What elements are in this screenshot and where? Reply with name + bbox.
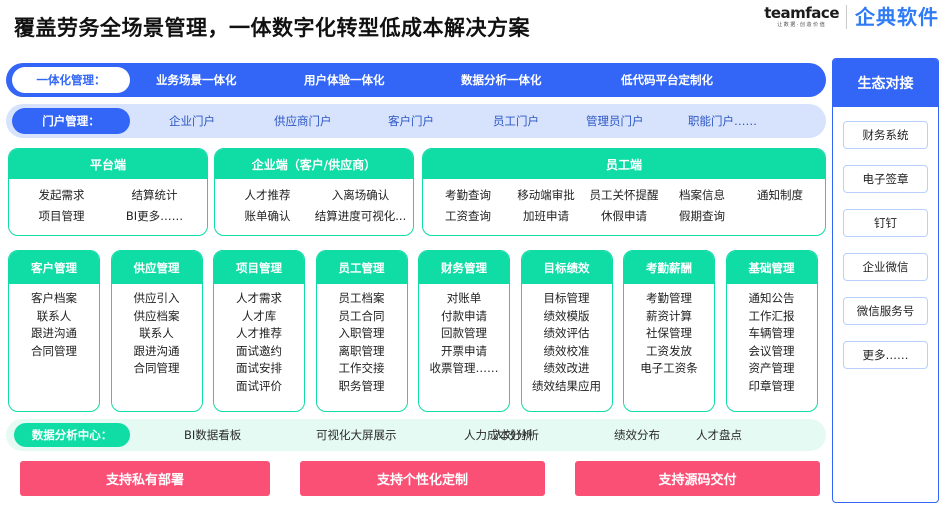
module-card-body: 供应引入供应档案联系人跟进沟通合同管理 [112, 284, 202, 377]
terminal-feature[interactable]: 休假申请 [585, 208, 663, 224]
module-card[interactable]: 客户管理客户档案联系人跟进沟通合同管理 [8, 250, 100, 412]
module-feature-item[interactable]: 员工档案 [339, 291, 385, 307]
module-card[interactable]: 供应管理供应引入供应档案联系人跟进沟通合同管理 [111, 250, 203, 412]
module-card-body: 通知公告工作汇报车辆管理会议管理资产管理印章管理 [727, 284, 817, 394]
module-card-body: 客户档案联系人跟进沟通合同管理 [9, 284, 99, 359]
module-feature-item[interactable]: 供应引入 [134, 291, 180, 307]
module-card[interactable]: 员工管理员工档案员工合同入职管理离职管理工作交接职务管理 [316, 250, 408, 412]
module-feature-item[interactable]: 绩效改进 [544, 361, 590, 377]
module-card-title: 基础管理 [727, 251, 817, 284]
module-card-title: 财务管理 [419, 251, 509, 284]
module-card-body: 对账单付款申请回款管理开票申请收票管理…… [419, 284, 509, 377]
module-feature-item[interactable]: 供应档案 [134, 309, 180, 325]
integration-item-2[interactable]: 数据分析一体化 [461, 72, 542, 88]
ecosystem-sidebar: 生态对接 财务系统电子签章钉钉企业微信微信服务号更多…… [832, 58, 939, 503]
terminal-feature [741, 208, 819, 224]
logo-tagline: 让数据·创造价值 [777, 23, 826, 28]
module-card-body: 员工档案员工合同入职管理离职管理工作交接职务管理 [317, 284, 407, 394]
cta-private-deployment[interactable]: 支持私有部署 [20, 461, 270, 496]
logo-wordmark: teamface [764, 6, 839, 21]
module-feature-item[interactable]: 联系人 [139, 326, 174, 342]
module-feature-item[interactable]: 合同管理 [31, 344, 77, 360]
module-card[interactable]: 项目管理人才需求人才库人才推荐面试邀约面试安排面试评价 [213, 250, 305, 412]
module-feature-item[interactable]: 入职管理 [339, 326, 385, 342]
page-header: 覆盖劳务全场景管理，一体数字化转型低成本解决方案 teamface 让数据·创造… [0, 0, 945, 52]
module-card-body: 人才需求人才库人才推荐面试邀约面试安排面试评价 [214, 284, 304, 394]
terminal-card-title: 平台端 [9, 149, 207, 179]
module-feature-item[interactable]: 绩效模版 [544, 309, 590, 325]
terminal-row: 项目管理BI更多…… [15, 208, 201, 224]
logo-teamface: teamface 让数据·创造价值 [764, 6, 846, 28]
terminal-card-enterprise: 企业端（客户/供应商） 人才推荐入离场确认账单确认结算进度可视化... [214, 148, 414, 236]
module-feature-item[interactable]: 付款申请 [441, 309, 487, 325]
portal-item-4[interactable]: 管理员门户 [586, 113, 644, 129]
analytics-item-5[interactable]: 人才盘点 [696, 427, 742, 443]
terminal-card-employee: 员工端 考勤查询移动端审批员工关怀提醒档案信息通知制度工资查询加班申请休假申请假… [422, 148, 826, 236]
analytics-item-0[interactable]: BI数据看板 [184, 427, 241, 443]
module-feature-item[interactable]: 工资发放 [646, 344, 692, 360]
portal-item-0[interactable]: 企业门户 [169, 113, 215, 129]
module-card-title: 项目管理 [214, 251, 304, 284]
module-feature-item[interactable]: 面试评价 [236, 379, 282, 395]
module-card-body: 考勤管理薪资计算社保管理工资发放电子工资条 [624, 284, 714, 377]
integration-management-bar: 一体化管理： 业务场景一体化用户体验一体化数据分析一体化低代码平台定制化 [6, 63, 826, 97]
module-card[interactable]: 财务管理对账单付款申请回款管理开票申请收票管理…… [418, 250, 510, 412]
integration-item-1[interactable]: 用户体验一体化 [304, 72, 385, 88]
module-card[interactable]: 考勤薪酬考勤管理薪资计算社保管理工资发放电子工资条 [623, 250, 715, 412]
terminal-feature[interactable]: 档案信息 [663, 187, 741, 203]
sidebar-title: 生态对接 [833, 59, 938, 107]
module-feature-item[interactable]: 员工合同 [339, 309, 385, 325]
terminal-card-title: 企业端（客户/供应商） [215, 149, 413, 179]
module-card-title: 供应管理 [112, 251, 202, 284]
module-feature-item[interactable]: 回款管理 [441, 326, 487, 342]
terminal-feature[interactable]: 工资查询 [429, 208, 507, 224]
terminal-feature[interactable]: 人才推荐 [221, 187, 314, 203]
logo-chinese-name: 企典软件 [847, 7, 939, 27]
terminal-row: 工资查询加班申请休假申请假期查询 [429, 208, 819, 224]
module-feature-item[interactable]: 绩效结果应用 [532, 379, 601, 395]
terminal-feature[interactable]: 通知制度 [741, 187, 819, 203]
module-feature-item[interactable]: 会议管理 [749, 344, 795, 360]
analytics-item-1[interactable]: 可视化大屏展示 [316, 427, 397, 443]
module-feature-item[interactable]: 绩效校准 [544, 344, 590, 360]
module-feature-item[interactable]: 工作交接 [339, 361, 385, 377]
brand-logo: teamface 让数据·创造价值 企典软件 [764, 2, 939, 32]
module-feature-item[interactable]: 联系人 [37, 309, 72, 325]
module-feature-item[interactable]: 跟进沟通 [134, 344, 180, 360]
module-card-body: 目标管理绩效模版绩效评估绩效校准绩效改进绩效结果应用 [522, 284, 612, 394]
terminal-feature[interactable]: 考勤查询 [429, 187, 507, 203]
module-feature-item[interactable]: 收票管理…… [430, 361, 499, 377]
portal-label-pill: 门户管理： [12, 108, 130, 134]
sidebar-item-0[interactable]: 财务系统 [843, 121, 928, 149]
module-feature-item[interactable]: 人才需求 [236, 291, 282, 307]
terminal-feature[interactable]: 项目管理 [15, 208, 108, 224]
cta-custom-development[interactable]: 支持个性化定制 [300, 461, 545, 496]
module-card-title: 目标绩效 [522, 251, 612, 284]
module-feature-item[interactable]: 客户档案 [31, 291, 77, 307]
module-feature-item[interactable]: 资产管理 [749, 361, 795, 377]
module-feature-item[interactable]: 面试安排 [236, 361, 282, 377]
module-feature-item[interactable]: 印章管理 [749, 379, 795, 395]
module-feature-item[interactable]: 工作汇报 [749, 309, 795, 325]
sidebar-item-2[interactable]: 钉钉 [843, 209, 928, 237]
analytics-item-3[interactable]: 人效分析 [493, 427, 539, 443]
terminal-feature[interactable]: BI更多…… [108, 208, 201, 224]
portal-management-bar: 门户管理： 企业门户供应商门户客户门户员工门户管理员门户职能门户…… [6, 104, 826, 138]
terminal-card-body: 考勤查询移动端审批员工关怀提醒档案信息通知制度工资查询加班申请休假申请假期查询 [423, 179, 825, 230]
analytics-item-4[interactable]: 绩效分布 [614, 427, 660, 443]
terminal-feature[interactable]: 移动端审批 [507, 187, 585, 203]
terminal-row: 考勤查询移动端审批员工关怀提醒档案信息通知制度 [429, 187, 819, 203]
data-analytics-bar: 数据分析中心： BI数据看板可视化大屏展示人力成本分析人效分析绩效分布人才盘点 [6, 419, 826, 451]
sidebar-item-1[interactable]: 电子签章 [843, 165, 928, 193]
module-feature-item[interactable]: 面试邀约 [236, 344, 282, 360]
module-feature-item[interactable]: 对账单 [447, 291, 482, 307]
module-feature-item[interactable]: 薪资计算 [646, 309, 692, 325]
sidebar-item-5[interactable]: 更多…… [843, 341, 928, 369]
module-card-title: 考勤薪酬 [624, 251, 714, 284]
sidebar-item-list: 财务系统电子签章钉钉企业微信微信服务号更多…… [833, 107, 938, 369]
portal-item-2[interactable]: 客户门户 [388, 113, 434, 129]
integration-item-0[interactable]: 业务场景一体化 [156, 72, 237, 88]
module-feature-item[interactable]: 跟进沟通 [31, 326, 77, 342]
module-feature-item[interactable]: 合同管理 [134, 361, 180, 377]
module-feature-item[interactable]: 绩效评估 [544, 326, 590, 342]
terminal-feature[interactable]: 发起需求 [15, 187, 108, 203]
analytics-label-pill: 数据分析中心： [14, 423, 130, 447]
module-card-title: 员工管理 [317, 251, 407, 284]
sidebar-item-3[interactable]: 企业微信 [843, 253, 928, 281]
module-card[interactable]: 目标绩效目标管理绩效模版绩效评估绩效校准绩效改进绩效结果应用 [521, 250, 613, 412]
terminal-feature[interactable]: 加班申请 [507, 208, 585, 224]
portal-item-3[interactable]: 员工门户 [493, 113, 539, 129]
module-feature-item[interactable]: 车辆管理 [749, 326, 795, 342]
module-feature-item[interactable]: 人才库 [242, 309, 277, 325]
terminal-card-platform: 平台端 发起需求结算统计项目管理BI更多…… [8, 148, 208, 236]
terminal-feature[interactable]: 假期查询 [663, 208, 741, 224]
cta-source-code-delivery[interactable]: 支持源码交付 [575, 461, 820, 496]
terminal-row: 账单确认结算进度可视化... [221, 208, 407, 224]
terminal-feature[interactable]: 结算进度可视化... [314, 208, 407, 224]
terminal-card-body: 人才推荐入离场确认账单确认结算进度可视化... [215, 179, 413, 230]
module-feature-item[interactable]: 考勤管理 [646, 291, 692, 307]
portal-item-1[interactable]: 供应商门户 [274, 113, 332, 129]
module-card[interactable]: 基础管理通知公告工作汇报车辆管理会议管理资产管理印章管理 [726, 250, 818, 412]
integration-item-3[interactable]: 低代码平台定制化 [621, 72, 713, 88]
module-feature-item[interactable]: 人才推荐 [236, 326, 282, 342]
slide-root: 覆盖劳务全场景管理，一体数字化转型低成本解决方案 teamface 让数据·创造… [0, 0, 945, 510]
module-feature-item[interactable]: 电子工资条 [640, 361, 698, 377]
terminal-card-body: 发起需求结算统计项目管理BI更多…… [9, 179, 207, 230]
module-feature-item[interactable]: 通知公告 [749, 291, 795, 307]
terminal-feature[interactable]: 结算统计 [108, 187, 201, 203]
module-card-title: 客户管理 [9, 251, 99, 284]
terminal-feature[interactable]: 入离场确认 [314, 187, 407, 203]
terminal-feature[interactable]: 账单确认 [221, 208, 314, 224]
module-feature-item[interactable]: 开票申请 [441, 344, 487, 360]
portal-item-5[interactable]: 职能门户…… [688, 113, 757, 129]
terminal-feature[interactable]: 员工关怀提醒 [585, 187, 663, 203]
page-title: 覆盖劳务全场景管理，一体数字化转型低成本解决方案 [14, 12, 530, 42]
terminal-row: 人才推荐入离场确认 [221, 187, 407, 203]
module-feature-item[interactable]: 离职管理 [339, 344, 385, 360]
sidebar-item-4[interactable]: 微信服务号 [843, 297, 928, 325]
terminal-card-title: 员工端 [423, 149, 825, 179]
module-feature-item[interactable]: 职务管理 [339, 379, 385, 395]
integration-label-pill: 一体化管理： [12, 67, 130, 93]
terminal-row: 发起需求结算统计 [15, 187, 201, 203]
module-feature-item[interactable]: 社保管理 [646, 326, 692, 342]
module-feature-item[interactable]: 目标管理 [544, 291, 590, 307]
